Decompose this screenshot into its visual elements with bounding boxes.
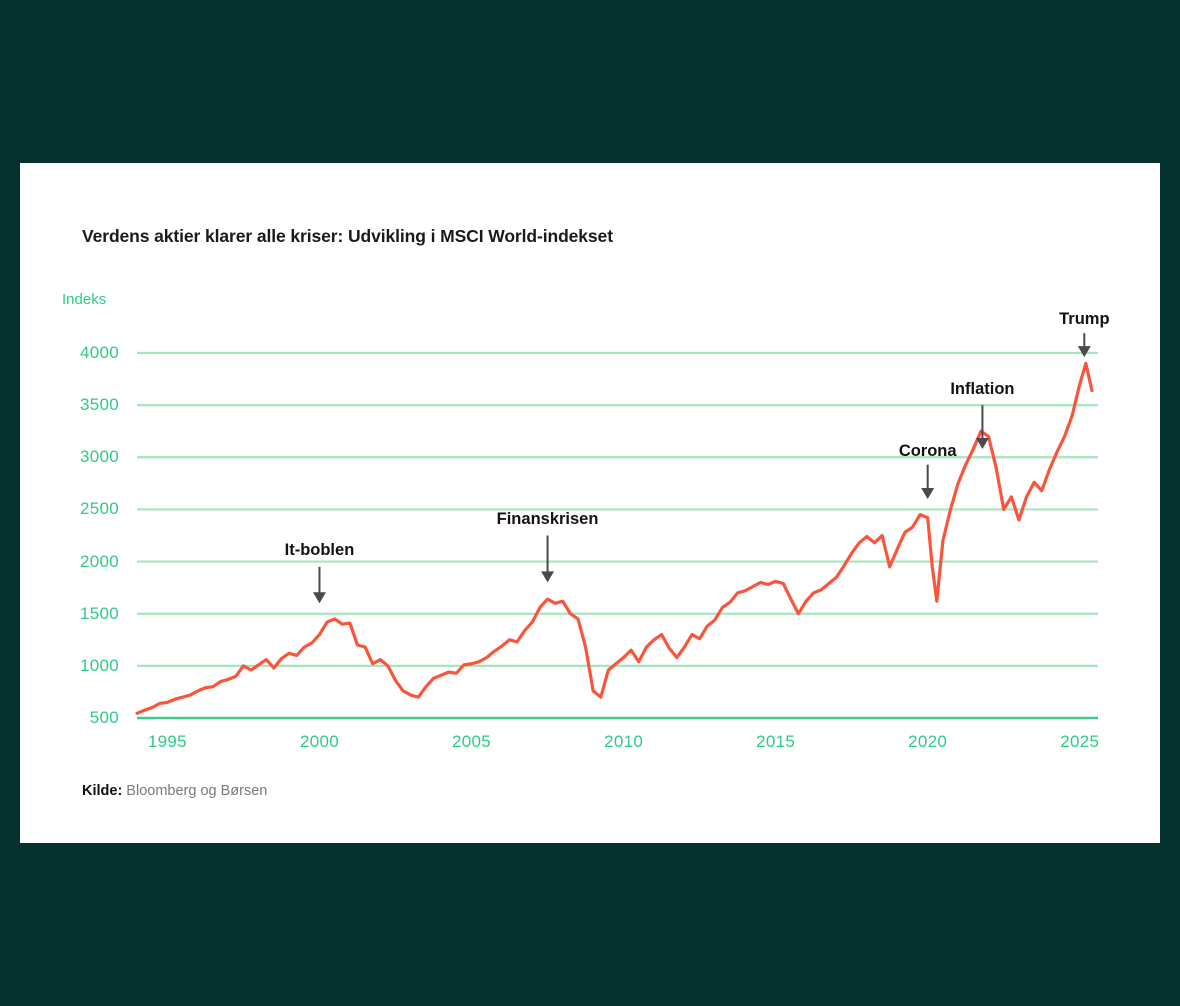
y-tick-label: 1000 bbox=[49, 656, 119, 676]
data-series-group bbox=[137, 363, 1092, 713]
y-tick-label: 1500 bbox=[49, 604, 119, 624]
x-tick-label: 2010 bbox=[584, 732, 664, 752]
x-tick-label: 2000 bbox=[279, 732, 359, 752]
y-tick-label: 4000 bbox=[49, 343, 119, 363]
annotation-label: Corona bbox=[899, 442, 957, 461]
x-tick-label: 2025 bbox=[1040, 732, 1120, 752]
y-tick-label: 500 bbox=[49, 708, 119, 728]
annotation-arrows-group bbox=[313, 333, 1091, 603]
x-tick-label: 2015 bbox=[736, 732, 816, 752]
annotation-label: Finanskrisen bbox=[497, 510, 599, 529]
annotation-label: It-boblen bbox=[285, 541, 355, 560]
y-tick-label: 3500 bbox=[49, 395, 119, 415]
source-note: Kilde: Bloomberg og Børsen bbox=[82, 783, 267, 799]
y-tick-label: 2500 bbox=[49, 499, 119, 519]
x-tick-label: 2005 bbox=[432, 732, 512, 752]
source-value: Bloomberg og Børsen bbox=[122, 783, 267, 799]
annotation-label: Trump bbox=[1059, 310, 1109, 329]
x-tick-label: 1995 bbox=[127, 732, 207, 752]
source-label: Kilde: bbox=[82, 783, 122, 799]
y-tick-label: 3000 bbox=[49, 447, 119, 467]
chart-plot-area: 5001000150020002500300035004000 19952000… bbox=[20, 163, 1160, 843]
chart-card: Verdens aktier klarer alle kriser: Udvik… bbox=[20, 163, 1160, 843]
page-root: Verdens aktier klarer alle kriser: Udvik… bbox=[0, 0, 1180, 1006]
x-tick-label: 2020 bbox=[888, 732, 968, 752]
y-tick-label: 2000 bbox=[49, 552, 119, 572]
annotation-label: Inflation bbox=[950, 380, 1014, 399]
